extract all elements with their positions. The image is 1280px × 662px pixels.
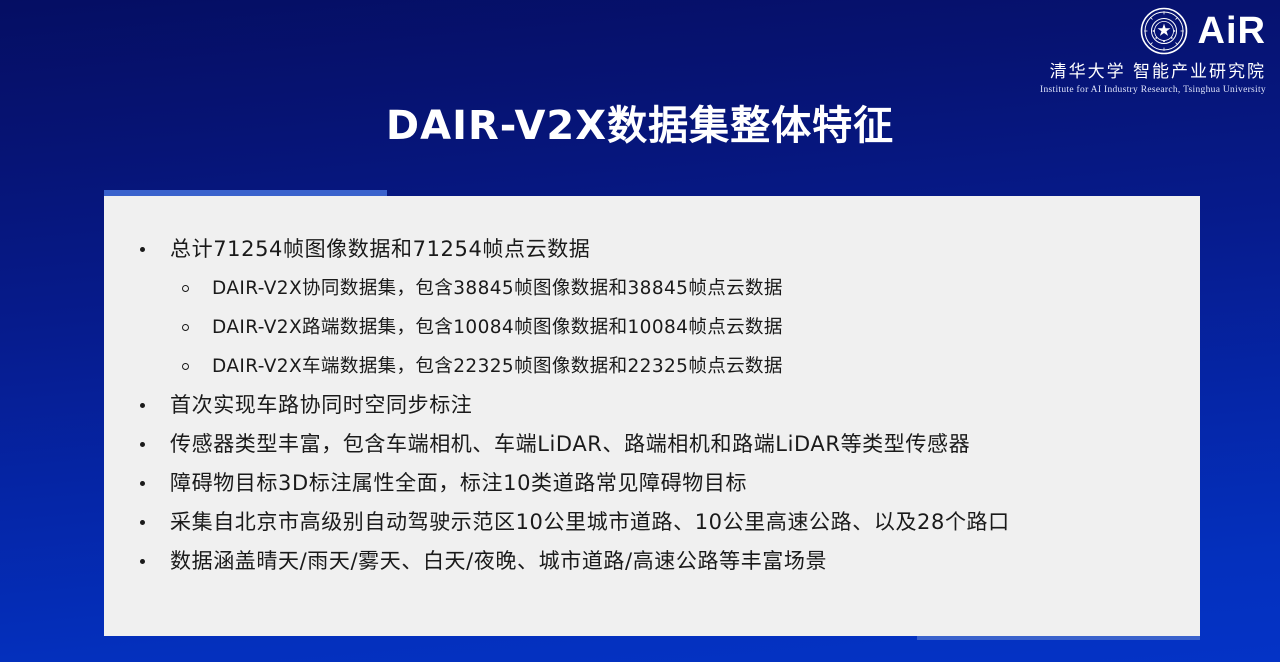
bullet-dot-icon — [140, 464, 170, 503]
list-item: DAIR-V2X车端数据集，包含22325帧图像数据和22325帧点云数据 — [104, 347, 1200, 386]
list-item: 传感器类型丰富，包含车端相机、车端LiDAR、路端相机和路端LiDAR等类型传感… — [104, 425, 1200, 464]
bullet-marker-glyph — [140, 481, 145, 486]
list-item-text: DAIR-V2X路端数据集，包含10084帧图像数据和10084帧点云数据 — [212, 308, 783, 347]
bullet-dot-icon — [140, 230, 170, 269]
presentation-slide: AiR 清华大学 智能产业研究院 Institute for AI Indust… — [0, 0, 1280, 662]
list-item-text: DAIR-V2X协同数据集，包含38845帧图像数据和38845帧点云数据 — [212, 269, 783, 308]
bullet-marker-glyph — [182, 285, 189, 292]
bullet-marker-glyph — [140, 520, 145, 525]
list-item: 首次实现车路协同时空同步标注 — [104, 386, 1200, 425]
list-item: 采集自北京市高级别自动驾驶示范区10公里城市道路、10公里高速公路、以及28个路… — [104, 503, 1200, 542]
bullet-circle-icon — [182, 308, 212, 347]
list-item-text: 采集自北京市高级别自动驾驶示范区10公里城市道路、10公里高速公路、以及28个路… — [170, 503, 1010, 542]
institution-chinese-name: 清华大学 智能产业研究院 — [1006, 57, 1266, 82]
bullet-marker-glyph — [182, 324, 189, 331]
list-item-text: 障碍物目标3D标注属性全面，标注10类道路常见障碍物目标 — [170, 464, 747, 503]
bullet-marker-glyph — [140, 403, 145, 408]
list-item-text: DAIR-V2X车端数据集，包含22325帧图像数据和22325帧点云数据 — [212, 347, 783, 386]
institution-logo: AiR 清华大学 智能产业研究院 Institute for AI Indust… — [1006, 6, 1266, 95]
list-item: DAIR-V2X协同数据集，包含38845帧图像数据和38845帧点云数据 — [104, 269, 1200, 308]
bullet-marker-glyph — [182, 363, 189, 370]
bullet-dot-icon — [140, 425, 170, 464]
logo-row: AiR — [1006, 6, 1266, 56]
list-item: 障碍物目标3D标注属性全面，标注10类道路常见障碍物目标 — [104, 464, 1200, 503]
content-card: 总计71254帧图像数据和71254帧点云数据DAIR-V2X协同数据集，包含3… — [104, 196, 1200, 636]
list-item: DAIR-V2X路端数据集，包含10084帧图像数据和10084帧点云数据 — [104, 308, 1200, 347]
bullet-marker-glyph — [140, 559, 145, 564]
slide-title: DAIR-V2X数据集整体特征 — [0, 93, 1280, 151]
list-item-text: 传感器类型丰富，包含车端相机、车端LiDAR、路端相机和路端LiDAR等类型传感… — [170, 425, 970, 464]
bullet-list: 总计71254帧图像数据和71254帧点云数据DAIR-V2X协同数据集，包含3… — [104, 230, 1200, 581]
bullet-circle-icon — [182, 269, 212, 308]
bullet-dot-icon — [140, 542, 170, 581]
bullet-dot-icon — [140, 503, 170, 542]
list-item: 总计71254帧图像数据和71254帧点云数据 — [104, 230, 1200, 269]
bullet-marker-glyph — [140, 442, 145, 447]
air-wordmark: AiR — [1198, 12, 1266, 50]
bullet-dot-icon — [140, 386, 170, 425]
list-item: 数据涵盖晴天/雨天/雾天、白天/夜晚、城市道路/高速公路等丰富场景 — [104, 542, 1200, 581]
list-item-text: 总计71254帧图像数据和71254帧点云数据 — [170, 230, 590, 269]
tsinghua-seal-icon — [1140, 7, 1188, 55]
list-item-text: 首次实现车路协同时空同步标注 — [170, 386, 472, 425]
bullet-circle-icon — [182, 347, 212, 386]
list-item-text: 数据涵盖晴天/雨天/雾天、白天/夜晚、城市道路/高速公路等丰富场景 — [170, 542, 827, 581]
bullet-marker-glyph — [140, 247, 145, 252]
